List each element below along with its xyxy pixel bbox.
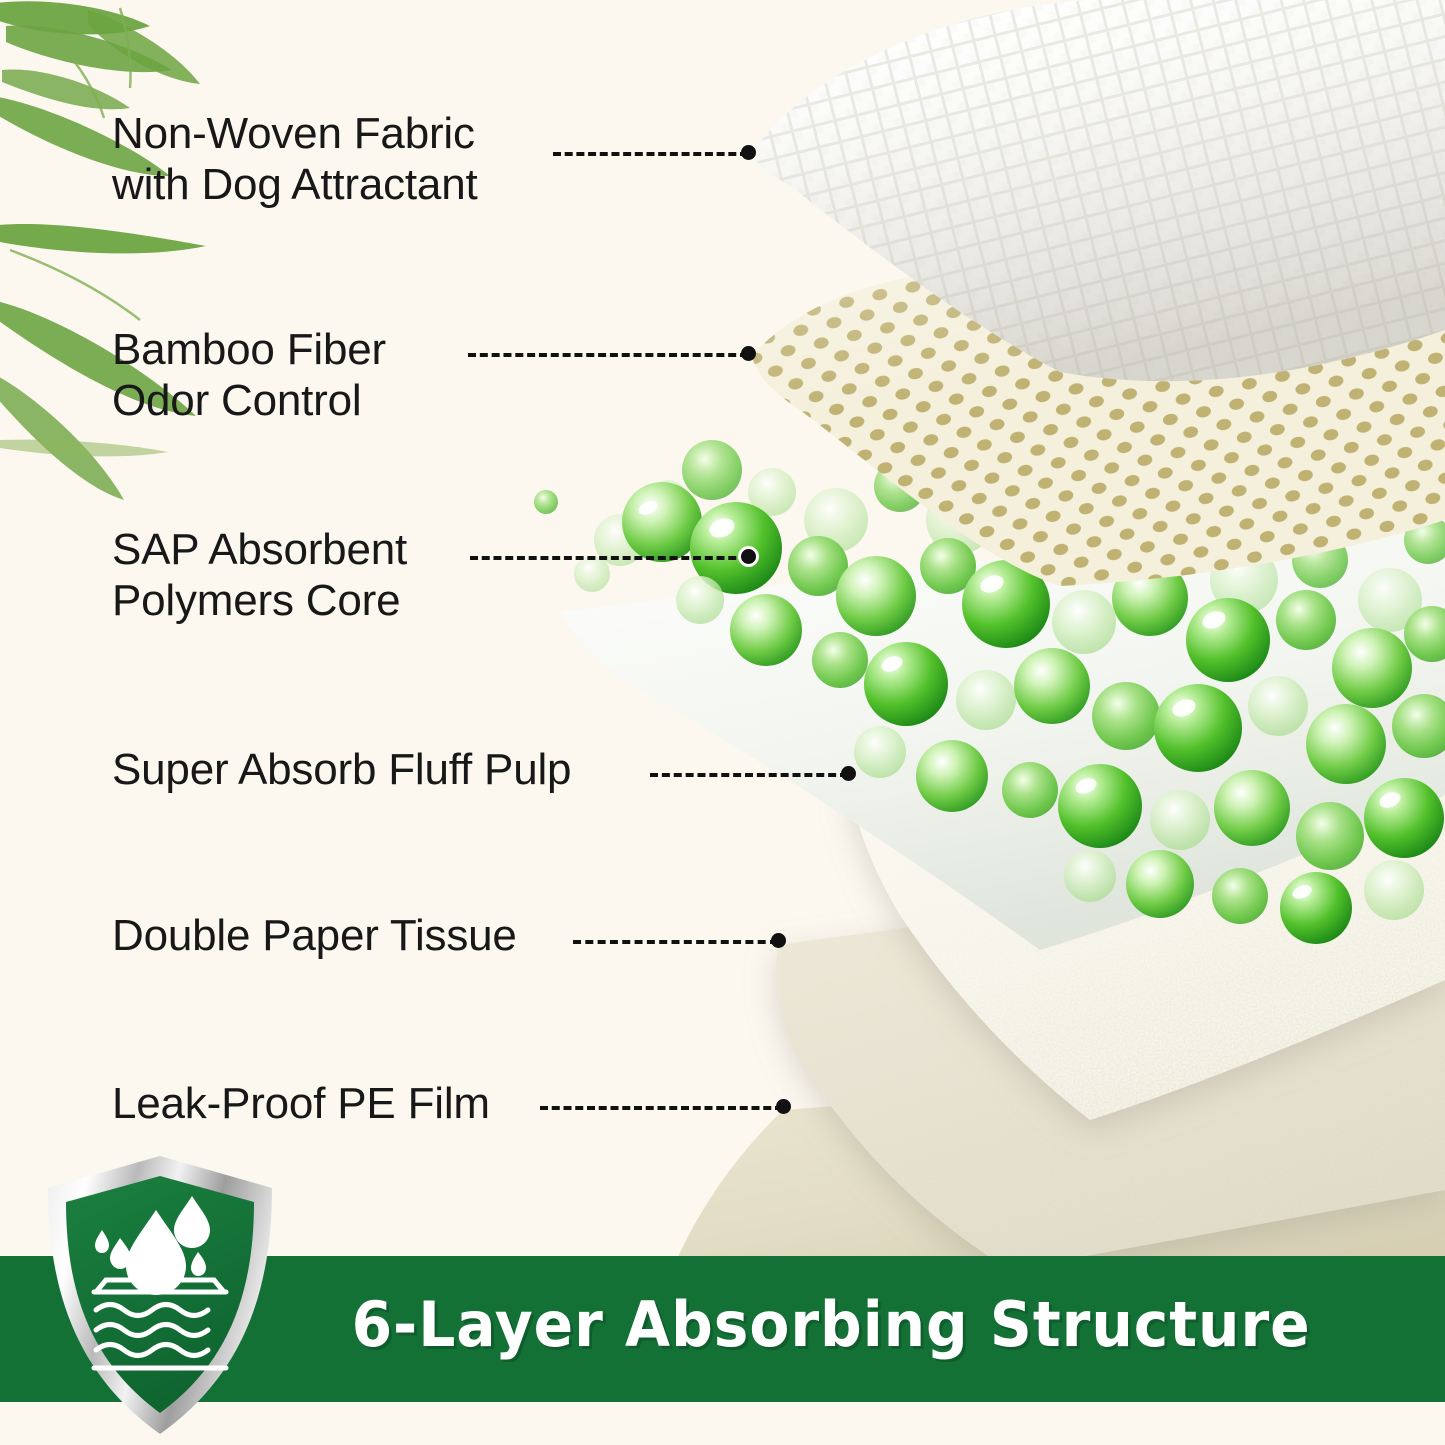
leader-dot-non-woven-fabric <box>741 145 756 160</box>
label-sap-absorbent-polymers-core: SAP Absorbent Polymers Core <box>112 524 407 626</box>
leader-line-fluff-pulp <box>650 773 848 777</box>
leader-line-non-woven-fabric <box>553 152 748 156</box>
callout-sap-absorbent-polymers-core: SAP Absorbent Polymers Core <box>112 524 407 626</box>
leader-dot-fluff-pulp <box>841 766 856 781</box>
leader-line-sap-core <box>470 556 748 560</box>
callout-non-woven-fabric: Non-Woven Fabric with Dog Attractant <box>112 108 478 210</box>
callout-super-absorb-fluff-pulp: Super Absorb Fluff Pulp <box>112 744 571 795</box>
label-super-absorb-fluff-pulp: Super Absorb Fluff Pulp <box>112 744 571 795</box>
leader-line-paper-tissue <box>573 940 778 944</box>
label-leak-proof-pe-film: Leak-Proof PE Film <box>112 1078 490 1129</box>
label-non-woven-fabric: Non-Woven Fabric with Dog Attractant <box>112 108 478 210</box>
banner-title: 6-Layer Absorbing Structure <box>300 1288 1362 1361</box>
leader-dot-sap-core <box>741 549 756 564</box>
label-double-paper-tissue: Double Paper Tissue <box>112 910 517 961</box>
callout-leak-proof-pe-film: Leak-Proof PE Film <box>112 1078 490 1129</box>
leader-dot-paper-tissue <box>771 933 786 948</box>
infographic-canvas: Non-Woven Fabric with Dog Attractant Bam… <box>0 0 1445 1445</box>
callout-double-paper-tissue: Double Paper Tissue <box>112 910 517 961</box>
leader-line-bamboo-fiber <box>468 353 748 357</box>
leader-dot-pe-film <box>776 1099 791 1114</box>
leader-line-pe-film <box>540 1106 783 1110</box>
label-bamboo-fiber: Bamboo Fiber Odor Control <box>112 324 386 426</box>
waterproof-shield-badge <box>40 1152 280 1438</box>
callout-bamboo-fiber: Bamboo Fiber Odor Control <box>112 324 386 426</box>
leader-dot-bamboo-fiber <box>741 346 756 361</box>
